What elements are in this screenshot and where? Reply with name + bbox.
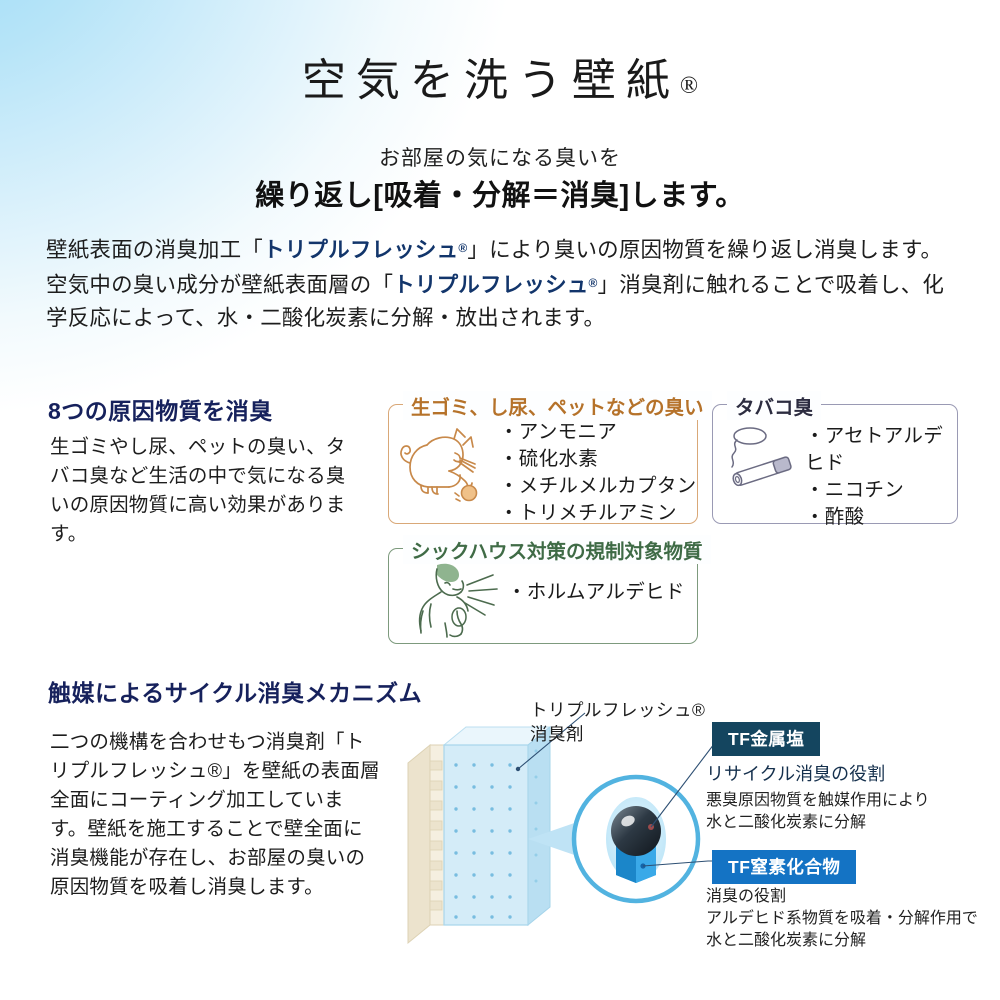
cat-playing-icon xyxy=(397,423,493,503)
cigarette-icon xyxy=(723,427,801,493)
page-title-text: 空気を洗う壁紙 xyxy=(302,56,680,105)
odor-box-kitchen: 生ゴミ、し尿、ペットなどの臭い ・アンモニア ・硫化水素 xyxy=(388,404,698,524)
odor-box-sickhouse: シックハウス対策の規制対象物質 ・ホルムアルデヒド xyxy=(388,548,698,644)
list-item: ・ホルムアルデヒド xyxy=(507,579,685,606)
wallpaper-backing-layer xyxy=(408,745,444,943)
odor-box-kitchen-items: ・アンモニア ・硫化水素 ・メチルメルカプタン ・トリメチルアミン xyxy=(499,419,696,527)
odor-box-sickhouse-items: ・ホルムアルデヒド xyxy=(507,579,685,606)
brand-reg-2: ® xyxy=(589,276,598,290)
lead-paragraph: 壁紙表面の消臭加工「トリプルフレッシュ®」により臭いの原因物質を繰り返し消臭しま… xyxy=(46,232,952,335)
badge-tf-metal-salt: TF金属塩 xyxy=(712,722,820,756)
odor-box-tobacco: タバコ臭 ・アセトアルデヒド ・ニコチン ・酢酸 xyxy=(712,404,958,524)
odor-box-kitchen-legend: 生ゴミ、し尿、ペットなどの臭い xyxy=(403,391,712,420)
section-heading-odor: 8つの原因物質を消臭 xyxy=(48,392,273,426)
list-item: ・アンモニア xyxy=(499,419,696,446)
badge-tf-nitrogen-compound: TF窒素化合物 xyxy=(712,850,856,884)
page-title: 空気を洗う壁紙® xyxy=(0,44,1000,108)
registered-mark: ® xyxy=(680,73,698,99)
list-item: ・メチルメルカプタン xyxy=(499,473,696,500)
wallpaper-cross-section-diagram xyxy=(400,735,700,975)
magnified-detail xyxy=(574,777,698,901)
subtitle-line-2: 繰り返し[吸着・分解＝消臭]します。 xyxy=(0,172,1000,214)
diagram-callout-triple-fresh: トリプルフレッシュ® 消臭剤 xyxy=(530,698,705,746)
subtitle-line-1: お部屋の気になる臭いを xyxy=(0,142,1000,172)
tf-metal-role: リサイクル消臭の役割 xyxy=(706,762,885,786)
callout-line-1: トリプルフレッシュ® xyxy=(530,698,705,722)
tf-metal-description: 悪臭原因物質を触媒作用により 水と二酸化炭素に分解 xyxy=(706,790,930,834)
infographic-page: 空気を洗う壁紙® お部屋の気になる臭いを 繰り返し[吸着・分解＝消臭]します。 … xyxy=(0,0,1000,1000)
list-item: ・トリメチルアミン xyxy=(499,500,696,527)
section-body-odor: 生ゴミやし尿、ペットの臭い、タバコ臭など生活の中で気になる臭いの原因物質に高い効… xyxy=(50,433,350,549)
lead-part-1: 壁紙表面の消臭加工「 xyxy=(46,238,263,262)
odor-box-tobacco-legend: タバコ臭 xyxy=(727,391,821,420)
odor-box-tobacco-items: ・アセトアルデヒド ・ニコチン ・酢酸 xyxy=(805,423,957,531)
tf-nitrogen-description: 消臭の役割 アルデヒド系物質を吸着・分解作用で 水と二酸化炭素に分解 xyxy=(706,886,978,952)
section-body-mechanism: 二つの機構を合わせもつ消臭剤「トリプルフレッシュ®」を壁紙の表面層全面にコーティ… xyxy=(50,728,380,902)
tf-metal-desc-line-1: 悪臭原因物質を触媒作用により xyxy=(706,790,930,812)
tf-metal-sphere xyxy=(611,806,661,856)
tf-nitro-desc-line-2: アルデヒド系物質を吸着・分解作用で xyxy=(706,908,978,930)
tf-metal-desc-line-2: 水と二酸化炭素に分解 xyxy=(706,812,930,834)
coughing-person-icon xyxy=(401,559,511,639)
list-item: ・酢酸 xyxy=(805,504,957,531)
tf-nitro-desc-line-3: 水と二酸化炭素に分解 xyxy=(706,930,978,952)
callout-line-2: 消臭剤 xyxy=(530,722,705,746)
list-item: ・アセトアルデヒド xyxy=(805,423,957,477)
section-heading-mechanism: 触媒によるサイクル消臭メカニズム xyxy=(48,674,422,708)
list-item: ・硫化水素 xyxy=(499,446,696,473)
brand-name-2: トリプルフレッシュ xyxy=(393,273,588,297)
brand-name-1: トリプルフレッシュ xyxy=(263,238,458,262)
wallpaper-surface-layer xyxy=(444,727,550,925)
tf-nitro-desc-line-1: 消臭の役割 xyxy=(706,886,978,908)
list-item: ・ニコチン xyxy=(805,477,957,504)
